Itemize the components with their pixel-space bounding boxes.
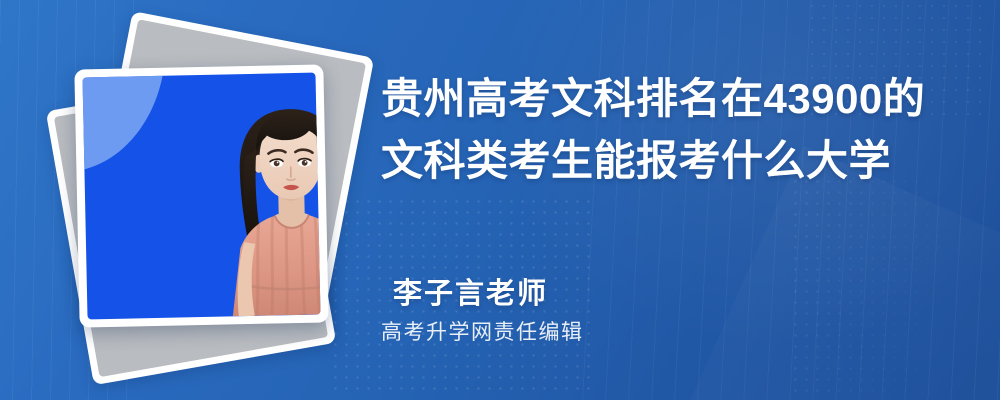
photo-card-stack	[46, 28, 366, 372]
photo-card-front	[74, 64, 328, 327]
author-role: 高考升学网责任编辑	[381, 316, 584, 346]
portrait-illustration	[194, 99, 321, 317]
author-portrait-photo	[82, 73, 320, 320]
banner-text-column: 贵州高考文科排名在43900的文科类考生能报考什么大学 李子言老师 高考升学网责…	[381, 0, 981, 400]
article-banner: 贵州高考文科排名在43900的文科类考生能报考什么大学 李子言老师 高考升学网责…	[0, 0, 1000, 400]
author-name: 李子言老师	[393, 270, 548, 312]
banner-headline: 贵州高考文科排名在43900的文科类考生能报考什么大学	[381, 68, 956, 192]
photo-corner-blob	[82, 73, 168, 173]
